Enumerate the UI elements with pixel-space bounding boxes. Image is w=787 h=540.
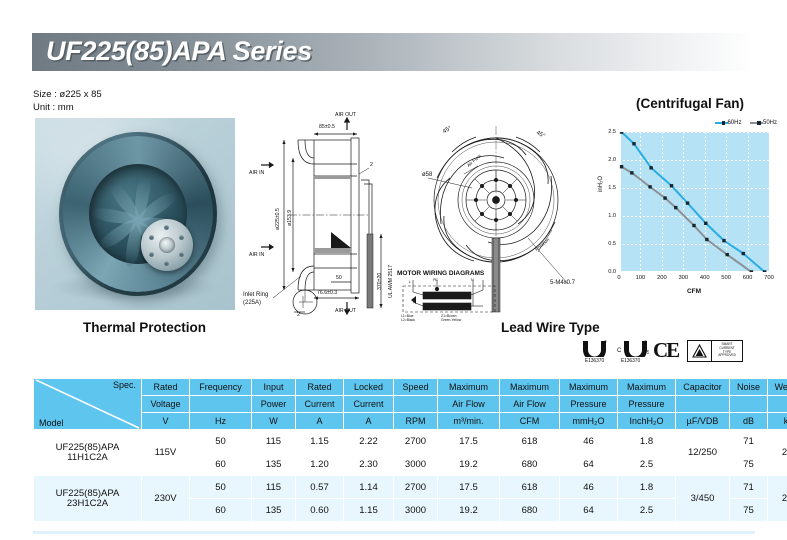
col-frequency-l1: Frequency [190,379,252,396]
lead-wire-type-caption: Lead Wire Type [501,320,600,335]
dim-depth: 85±0.5 [319,124,335,130]
x-axis-tick: 0 [617,275,620,281]
cell-airflow-m3-2-50: 17.5 [438,476,500,499]
chart-legend: 60Hz50Hz [715,120,777,126]
cell-voltage-1: 115V [142,430,190,476]
col-capacitor-l2 [676,396,730,413]
col-noise-l2 [730,396,768,413]
air-out-top-label: AIR OUT [335,112,356,118]
legend-item-50Hz: 50Hz [750,120,777,126]
data-point [722,239,725,242]
cell-noise-1-60: 75 [730,453,768,476]
data-point [649,166,652,169]
col-airflow-cfm-l2: Air Flow [500,396,560,413]
cell-speed-2-60: 3000 [394,499,438,522]
col-airflow-m3-unit: m³/min. [438,413,500,430]
cell-airflow-m3-2-60: 19.2 [438,499,500,522]
col-rated-voltage-l1: Rated [142,379,190,396]
cell-locked-current-2-60: 1.15 [344,499,394,522]
data-point [674,206,677,209]
tuv-certification: SMART CURRENT TYPE APPROVED [687,340,743,362]
x-axis-tick: 400 [700,275,710,281]
cell-airflow-cfm-2-60: 680 [500,499,560,522]
col-capacitor-l1: Capacitor [676,379,730,396]
header-model-label: Model [39,418,64,428]
table-bottom-edge [33,531,755,534]
cell-rated-current-1-50: 1.15 [296,430,344,453]
col-pressure-mm-l1: Maximum [560,379,618,396]
wiring-legend-z2: Green-Yellow [441,318,461,322]
certification-marks: ® E136370 CUS® E136370 CE SMART CURRENT … [581,338,743,364]
col-pressure-mm-l2: Pressure [560,396,618,413]
col-frequency-unit: Hz [190,413,252,430]
data-point [686,201,689,204]
model-line-2: 23H1C2A [34,499,141,509]
cell-power-1-60: 135 [252,453,296,476]
size-unit-block: Size : ø225 x 85 Unit : mm [33,88,102,114]
header-corner-cell: Spec. Model [34,379,142,430]
data-point [705,238,708,241]
cell-capacitor-2: 3/450 [676,476,730,522]
data-point [692,224,695,227]
air-in-lower-label: AIR IN [249,252,264,258]
col-capacitor-unit: µF/VDB [676,413,730,430]
y-axis-tick: 0.0 [608,269,616,275]
col-rated-voltage-l2: Voltage [142,396,190,413]
shaft-dia-label: ø58 [422,172,432,178]
cell-power-1-50: 115 [252,430,296,453]
cell-speed-2-50: 2700 [394,476,438,499]
col-input-power-l1: Input [252,379,296,396]
data-point [620,165,623,168]
col-frequency-l2 [190,396,252,413]
y-axis-tick: 0.5 [608,241,616,247]
dim-hub-width: 50 [336,275,342,281]
dim-detail-thickness: 2 [297,312,300,318]
series-line-50Hz [622,167,752,272]
inlet-ring-model: (225A) [243,300,261,306]
cell-airflow-m3-1-50: 17.5 [438,430,500,453]
data-point [742,252,745,255]
col-airflow-cfm-unit: CFM [500,413,560,430]
model-line-2: 11H1C2A [34,453,141,463]
col-locked-current-l2: Current [344,396,394,413]
cul-us-certification: CUS® E136370 [617,338,644,364]
data-point [648,185,651,188]
col-airflow-m3-l2: Air Flow [438,396,500,413]
cell-rated-current-2-50: 0.57 [296,476,344,499]
dim-thickness: 2 [370,162,373,168]
cell-weight-2: 2.3 [768,476,787,522]
tuv-line4: APPROVED [718,354,736,358]
side-section-drawing: 85±0.5 ø225±0.5 ø153.9 76.6±0.3 50 370±2… [243,112,393,318]
col-input-power-l2: Power [252,396,296,413]
data-point [670,184,673,187]
cell-pressure-mm-2-60: 64 [560,499,618,522]
cell-airflow-cfm-2-50: 618 [500,476,560,499]
header-spec-label: Spec. [113,380,136,390]
cell-freq-1-60: 60 [190,453,252,476]
col-locked-current-l1: Locked [344,379,394,396]
col-noise-l1: Noise [730,379,768,396]
chart-x-axis-label: CFM [619,288,769,295]
x-axis-tick: 100 [636,275,646,281]
col-rated-current-l1: Rated [296,379,344,396]
table-row: UF225(85)APA 23H1C2A 230V 50 115 0.57 1.… [34,476,787,499]
cell-model-2: UF225(85)APA 23H1C2A [34,476,142,522]
col-speed-l2 [394,396,438,413]
dim-outer-dia: ø225±0.5 [275,208,281,230]
col-weight-unit: kg [768,413,787,430]
col-speed-l1: Speed [394,379,438,396]
unit-line: Unit : mm [33,101,102,114]
cell-rated-current-1-60: 1.20 [296,453,344,476]
cell-airflow-cfm-1-50: 618 [500,430,560,453]
wiring-terminal-n: N [471,278,474,282]
col-pressure-inch-l2: Pressure [618,396,676,413]
col-pressure-inch-l1: Maximum [618,379,676,396]
svg-text:C: C [617,348,622,354]
data-point [763,270,766,272]
col-pressure-inch-unit: InchH₂O [618,413,676,430]
x-axis-tick: 200 [657,275,667,281]
tuv-icon: SMART CURRENT TYPE APPROVED [687,340,743,362]
tuv-text-block: SMART CURRENT TYPE APPROVED [712,341,742,361]
legend-label: 50Hz [763,120,777,126]
col-weight-l1: Weight [768,379,787,396]
ul-certification: ® E136370 [581,338,608,364]
inlet-ring-label: Inlet Ring [243,292,268,298]
cell-speed-1-60: 3000 [394,453,438,476]
cell-airflow-m3-1-60: 19.2 [438,453,500,476]
col-rated-current-unit: A [296,413,344,430]
cell-pressure-inch-1-60: 2.5 [618,453,676,476]
col-airflow-cfm-l1: Maximum [500,379,560,396]
data-point [750,270,753,272]
cell-freq-2-50: 50 [190,476,252,499]
x-axis-tick: 500 [721,275,731,281]
chart-y-axis-label: inH₂O [598,176,604,192]
air-in-upper-label: AIR IN [249,170,264,176]
motor-wiring-diagram: MOTOR WIRING DIAGRAMS L PE N L1=Blue L2=… [397,270,507,320]
wire-spec-label: UL AWM 2517 [388,265,394,298]
data-point [630,171,633,174]
cell-rated-current-2-60: 0.60 [296,499,344,522]
header-row-2: Voltage Power Current Current Air Flow A… [34,396,787,413]
ce-certification: CE [653,340,678,361]
tuv-triangle-icon [688,341,712,361]
air-out-bottom-label: AIR OUT [335,308,356,314]
cul-us-file-number: E136370 [621,358,640,364]
fan-product-photo [35,118,235,310]
x-axis-tick: 700 [764,275,774,281]
header-row-1: Spec. Model Rated Frequency Input Rated … [34,379,787,396]
dim-lead-length: 370±20 [377,273,383,290]
impeller-inner-cavity [89,164,187,264]
data-point [704,222,707,225]
chart-title: (Centrifugal Fan) [597,96,783,111]
cell-power-2-50: 115 [252,476,296,499]
data-point [726,253,729,256]
cell-pressure-inch-1-50: 1.8 [618,430,676,453]
cell-pressure-mm-2-50: 46 [560,476,618,499]
y-axis-tick: 1.0 [608,213,616,219]
cell-pressure-mm-1-50: 46 [560,430,618,453]
wiring-legend-l2: L2=Black [401,318,415,322]
svg-text:US: US [643,350,649,356]
cell-freq-2-60: 60 [190,499,252,522]
legend-item-60Hz: 60Hz [715,120,742,126]
cell-noise-2-60: 75 [730,499,768,522]
svg-text:®: ® [604,339,607,344]
cell-voltage-2: 230V [142,476,190,522]
col-weight-l2 [768,396,787,413]
wiring-schematic-svg [397,278,507,318]
dim-inner-dia: ø153.9 [287,210,293,226]
ul-icon: ® [581,338,608,357]
cell-pressure-inch-2-50: 1.8 [618,476,676,499]
y-axis-tick: 2.5 [608,129,616,135]
dim-base-width: 76.6±0.3 [317,290,337,296]
cell-locked-current-1-60: 2.30 [344,453,394,476]
page-title: UF225(85)APA Series [46,36,312,67]
series-line-60Hz [622,132,765,272]
table-header: Spec. Model Rated Frequency Input Rated … [34,379,787,430]
header-row-3: V Hz W A A RPM m³/min. CFM mmH₂O InchH₂O… [34,413,787,430]
cell-noise-1-50: 71 [730,430,768,453]
cell-locked-current-2-50: 1.14 [344,476,394,499]
col-speed-unit: RPM [394,413,438,430]
side-view-svg [243,112,393,318]
cell-model-1: UF225(85)APA 11H1C2A [34,430,142,476]
table-body: UF225(85)APA 11H1C2A 115V 50 115 1.15 2.… [34,430,787,522]
ce-icon: CE [653,340,678,361]
svg-text:®: ® [644,339,647,344]
cell-noise-2-50: 71 [730,476,768,499]
cell-weight-1: 2.3 [768,430,787,476]
x-axis-tick: 600 [743,275,753,281]
cell-pressure-inch-2-60: 2.5 [618,499,676,522]
specification-table: Spec. Model Rated Frequency Input Rated … [33,378,787,522]
ul-file-number: E136370 [585,358,604,364]
thermal-protection-caption: Thermal Protection [83,320,206,335]
col-pressure-mm-unit: mmH₂O [560,413,618,430]
chart-series-svg [619,132,769,272]
impeller-body [59,132,217,296]
cell-speed-1-50: 2700 [394,430,438,453]
hub-center [159,237,175,253]
legend-marker-swatch [757,121,761,125]
grid-line-vertical [769,132,770,272]
cul-us-icon: CUS® [617,338,644,357]
col-airflow-m3-l1: Maximum [438,379,500,396]
table-row: UF225(85)APA 11H1C2A 115V 50 115 1.15 2.… [34,430,787,453]
cell-locked-current-1-50: 2.22 [344,430,394,453]
motor-hub [141,219,193,271]
x-axis-tick: 300 [678,275,688,281]
size-line: Size : ø225 x 85 [33,88,102,101]
cell-power-2-60: 135 [252,499,296,522]
model-line-1: UF225(85)APA [34,443,141,453]
model-line-1: UF225(85)APA [34,489,141,499]
col-noise-unit: dB [730,413,768,430]
col-locked-current-unit: A [344,413,394,430]
data-point [620,132,623,134]
legend-label: 60Hz [727,120,741,126]
col-rated-voltage-unit: V [142,413,190,430]
cell-freq-1-50: 50 [190,430,252,453]
motor-wiring-title: MOTOR WIRING DIAGRAMS [397,270,507,277]
screw-spec-label: 5-M4x0.7 [550,280,575,286]
chart-plot-area: 0.00.51.01.52.02.50100200300400500600700 [619,132,769,272]
cell-pressure-mm-1-60: 64 [560,453,618,476]
wiring-terminal-l: L [409,280,411,284]
col-rated-current-l2: Current [296,396,344,413]
col-input-power-unit: W [252,413,296,430]
cell-capacitor-1: 12/250 [676,430,730,476]
cell-airflow-cfm-1-60: 680 [500,453,560,476]
y-axis-tick: 2.0 [608,157,616,163]
data-point [663,196,666,199]
y-axis-tick: 1.5 [608,185,616,191]
legend-marker-swatch [722,121,726,125]
data-point [632,142,635,145]
performance-chart: (Centrifugal Fan) 60Hz50Hz 0.00.51.01.52… [597,96,783,308]
wiring-terminal-pe: PE [433,278,438,282]
